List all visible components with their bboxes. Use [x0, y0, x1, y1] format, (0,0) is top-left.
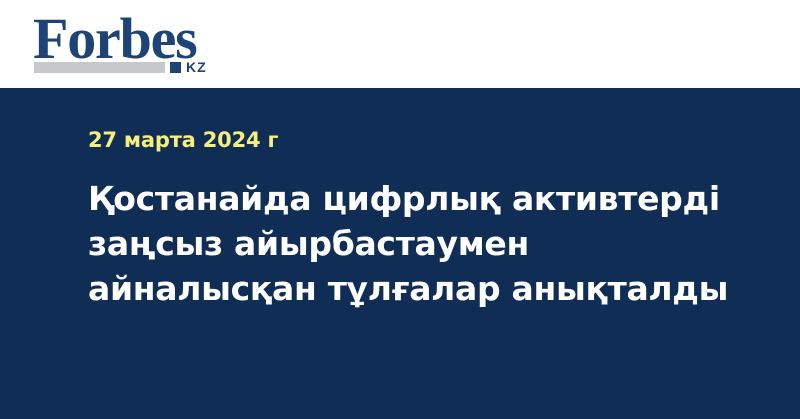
logo-gray-bar	[34, 62, 165, 73]
article-date: 27 марта 2024 г	[88, 128, 278, 152]
headline-line-1: Қостанайда цифрлық активтерді	[88, 176, 748, 221]
forbes-wordmark: Forbes	[33, 8, 197, 70]
site-header: Forbes KZ	[0, 0, 800, 88]
article-headline: Қостанайда цифрлық активтерді заңсыз айы…	[88, 176, 748, 311]
forbes-kz-logo[interactable]: Forbes KZ	[33, 11, 233, 79]
headline-line-3: айналысқан тұлғалар анықталды	[88, 266, 748, 311]
logo-kz-suffix: KZ	[186, 60, 207, 75]
logo-blue-square-icon	[170, 62, 181, 73]
headline-line-2: заңсыз айырбастаумен	[88, 221, 748, 266]
article-panel: 27 марта 2024 г Қостанайда цифрлық актив…	[0, 88, 800, 419]
news-card: Forbes KZ 27 марта 2024 г Қостанайда циф…	[0, 0, 800, 419]
